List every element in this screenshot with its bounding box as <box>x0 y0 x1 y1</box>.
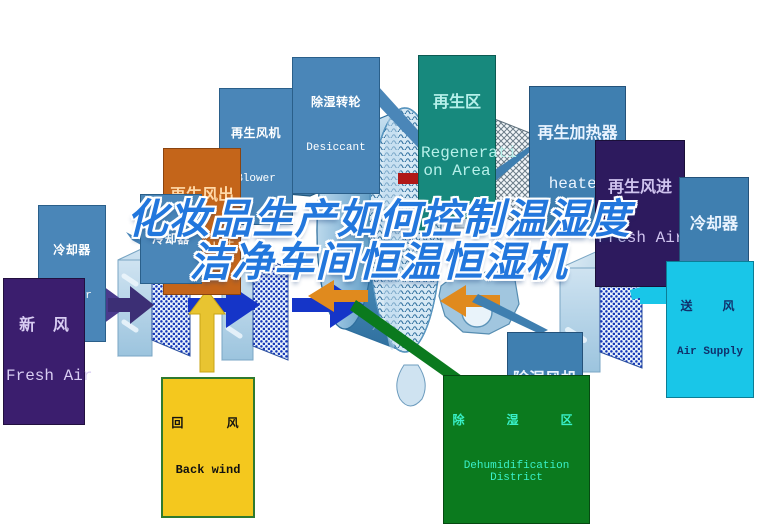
label-dehumidification-district-cn: 除 湿 区 <box>446 414 587 427</box>
label-cooler-left-a-cn: 冷却器 <box>41 244 103 257</box>
label-dehumidification-district[interactable]: 除 湿 区 Dehumidification District <box>443 375 590 524</box>
label-cooler-right-cn: 冷却器 <box>682 216 746 233</box>
label-desiccant-wheel-en: Desiccant <box>295 143 377 155</box>
label-regen-blower-cn: 再生风机 <box>222 127 290 140</box>
label-back-wind[interactable]: 回 风 Back wind <box>161 377 255 518</box>
label-regen-fresh-air-en: Fresh Air <box>598 230 682 247</box>
label-regeneration-area-en: Regenerati on Area <box>421 145 493 180</box>
label-dehumidification-district-en: Dehumidification District <box>446 461 587 485</box>
label-regen-fresh-air-cn: 再生风进 <box>598 179 682 196</box>
label-regeneration-area-cn: 再生区 <box>421 94 493 111</box>
label-back-wind-en: Back wind <box>165 464 251 477</box>
label-air-supply[interactable]: 送 风 Air Supply <box>666 261 754 398</box>
label-air-supply-cn: 送 风 <box>669 300 751 313</box>
label-fresh-air-en: Fresh Air <box>6 368 82 385</box>
label-back-wind-cn: 回 风 <box>165 417 251 430</box>
label-desiccant-wheel[interactable]: 除湿转轮 Desiccant <box>292 57 380 194</box>
label-air-supply-en: Air Supply <box>669 347 751 359</box>
label-cooler-left-b-cn: 冷却器 <box>143 233 199 246</box>
label-fresh-air-cn: 新 风 <box>6 317 82 334</box>
label-fresh-air[interactable]: 新 风 Fresh Air <box>3 278 85 425</box>
label-regeneration-area[interactable]: 再生区 Regenerati on Area <box>418 55 496 219</box>
diagram-canvas: XT <box>0 0 757 488</box>
label-cooler-left-b[interactable]: 冷却器 <box>140 194 202 284</box>
label-desiccant-wheel-cn: 除湿转轮 <box>295 96 377 109</box>
